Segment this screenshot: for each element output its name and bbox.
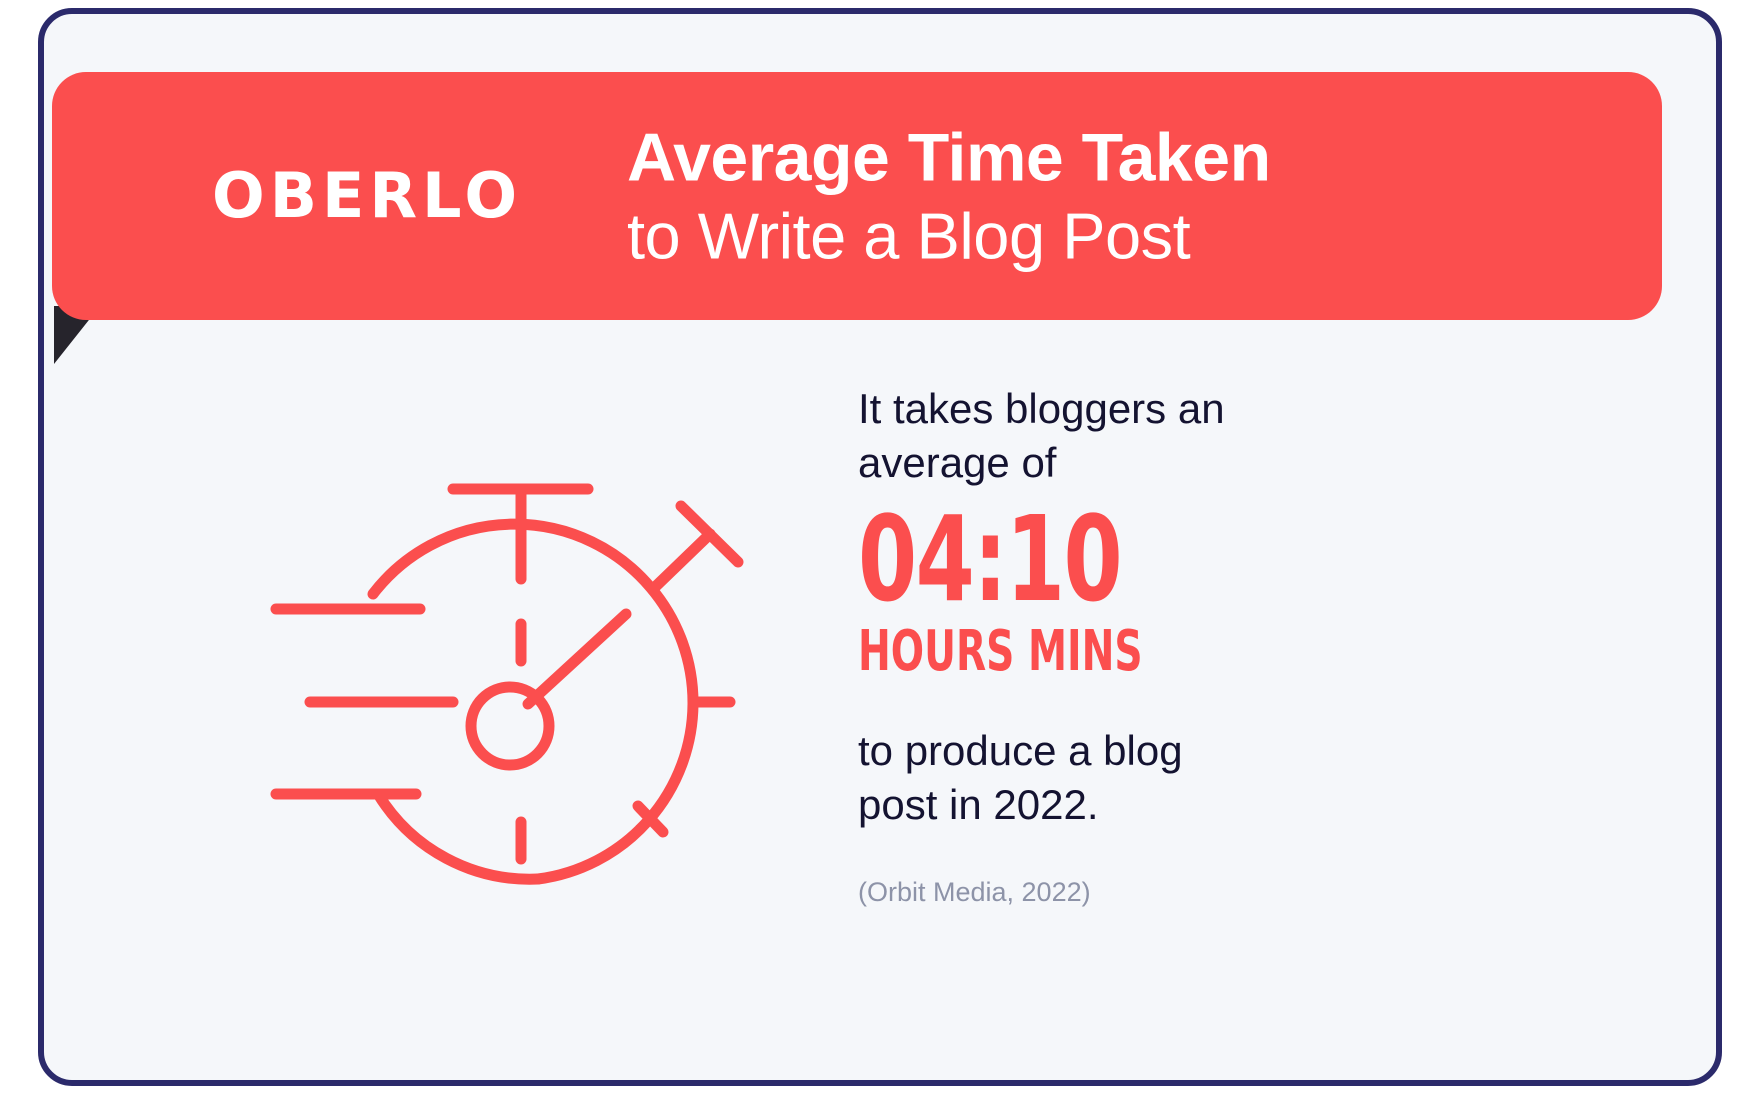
infographic-card: OBERLO Average Time Taken to Write a Blo… — [38, 8, 1722, 1086]
stat-text-column: It takes bloggers an average of 04:10 HO… — [858, 382, 1378, 908]
stopwatch-icon — [238, 374, 798, 934]
oberlo-logo: OBERLO — [212, 165, 522, 227]
source-citation: (Orbit Media, 2022) — [858, 876, 1378, 908]
infographic-canvas: OBERLO Average Time Taken to Write a Blo… — [0, 0, 1740, 1105]
crown-stem — [653, 534, 710, 589]
header-banner: OBERLO Average Time Taken to Write a Blo… — [52, 72, 1662, 320]
center-hub — [471, 687, 549, 765]
page-title: Average Time Taken to Write a Blog Post — [627, 124, 1271, 269]
tail-text: to produce a blog post in 2022. — [858, 724, 1258, 832]
lead-text: It takes bloggers an average of — [858, 382, 1258, 490]
title-line-1: Average Time Taken — [627, 124, 1271, 192]
card-body: It takes bloggers an average of 04:10 HO… — [88, 334, 1672, 1040]
stopwatch-illustration — [238, 374, 798, 934]
title-line-2: to Write a Blog Post — [627, 204, 1271, 269]
stat-value: 04:10 — [858, 504, 1232, 615]
dial-arc-lower — [378, 794, 538, 879]
stat-unit-label: HOURS MINS — [858, 624, 1222, 680]
clock-hand — [528, 614, 626, 704]
